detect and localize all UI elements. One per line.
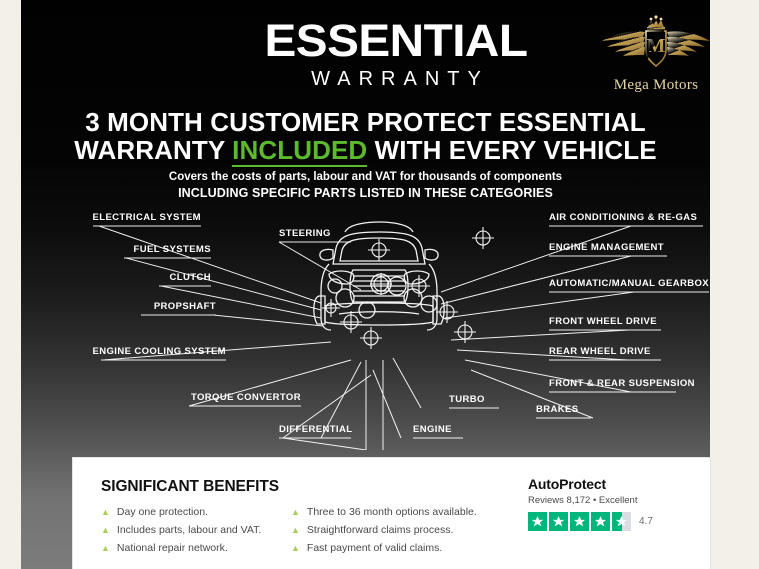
headline-line2-before: WARRANTY — [74, 135, 225, 165]
diagram-label-differential: DIFFERENTIAL — [279, 424, 352, 437]
diagram-label-suspension: FRONT & REAR SUSPENSION — [549, 378, 695, 391]
trustpilot-stars: 4.7 — [528, 512, 653, 531]
diagram-label-engine-cooling-system: ENGINE COOLING SYSTEM — [21, 346, 226, 359]
benefits-column-1: ▲ Day one protection. ▲ Includes parts, … — [101, 504, 261, 558]
diagram-label-front-wheel-drive: FRONT WHEEL DRIVE — [549, 316, 657, 329]
diagram-label-propshaft: PROPSHAFT — [21, 301, 216, 314]
trustpilot-summary: Reviews 8,172 • Excellent — [528, 495, 653, 506]
chevron-up-icon: ▲ — [291, 504, 300, 520]
trustpilot-rating-word: Excellent — [599, 495, 638, 506]
mega-motors-logo: M Mega Motors — [591, 14, 710, 102]
headline-line2-after: WITH EVERY VEHICLE — [375, 135, 657, 165]
benefit-text: Straightforward claims process. — [307, 522, 453, 538]
star-icon — [528, 512, 547, 531]
benefit-text: National repair network. — [117, 540, 228, 556]
benefits-title: SIGNIFICANT BENEFITS — [101, 478, 279, 496]
star-icon — [549, 512, 568, 531]
benefit-text: Day one protection. — [117, 504, 208, 520]
headline-line-2: WARRANTY INCLUDED WITH EVERY VEHICLE — [21, 136, 710, 164]
diagram-label-rear-wheel-drive: REAR WHEEL DRIVE — [549, 346, 651, 359]
star-icon — [570, 512, 589, 531]
subheading-line-1: Covers the costs of parts, labour and VA… — [21, 170, 710, 185]
diagram-label-engine: ENGINE — [413, 424, 452, 437]
benefit-text: Includes parts, labour and VAT. — [117, 522, 261, 538]
trustpilot-reviews-count: Reviews 8,172 — [528, 495, 590, 506]
diagram-label-turbo: TURBO — [449, 394, 485, 407]
subheading-block: Covers the costs of parts, labour and VA… — [21, 170, 710, 201]
benefit-item: ▲ Straightforward claims process. — [291, 522, 477, 538]
star-icon-partial — [612, 512, 631, 531]
headline-highlight-included: INCLUDED — [232, 135, 367, 167]
benefit-item: ▲ Includes parts, labour and VAT. — [101, 522, 261, 538]
diagram-label-torque-convertor: TORQUE CONVERTOR — [21, 392, 301, 405]
brand-title-block: ESSENTIAL WARRANTY — [246, 18, 546, 92]
diagram-label-fuel-systems: FUEL SYSTEMS — [21, 244, 211, 257]
benefit-item: ▲ National repair network. — [101, 540, 261, 556]
benefit-text: Three to 36 month options available. — [307, 504, 477, 520]
benefit-item: ▲ Three to 36 month options available. — [291, 504, 477, 520]
chevron-up-icon: ▲ — [101, 522, 110, 538]
significant-benefits-panel: SIGNIFICANT BENEFITS ▲ Day one protectio… — [73, 458, 710, 569]
benefit-item: ▲ Fast payment of valid claims. — [291, 540, 477, 556]
winged-crown-shield-icon: M — [596, 14, 710, 76]
headline-line-1: 3 MONTH CUSTOMER PROTECT ESSENTIAL — [21, 108, 710, 136]
brand-title-warranty: WARRANTY — [246, 66, 546, 92]
star-icon — [591, 512, 610, 531]
chevron-up-icon: ▲ — [101, 540, 110, 556]
diagram-label-steering: STEERING — [279, 228, 331, 241]
trustpilot-separator: • — [593, 495, 596, 506]
headline-block: 3 MONTH CUSTOMER PROTECT ESSENTIAL WARRA… — [21, 108, 710, 164]
benefits-column-2: ▲ Three to 36 month options available. ▲… — [291, 504, 477, 558]
trustpilot-provider: AutoProtect — [528, 476, 653, 492]
benefit-item: ▲ Day one protection. — [101, 504, 261, 520]
trustpilot-block: AutoProtect Reviews 8,172 • Excellent 4.… — [528, 476, 653, 531]
diagram-label-engine-management: ENGINE MANAGEMENT — [549, 242, 664, 255]
diagram-label-clutch: CLUTCH — [21, 272, 211, 285]
logo-wordmark: Mega Motors — [591, 77, 710, 94]
subheading-line-2: INCLUDING SPECIFIC PARTS LISTED IN THESE… — [21, 185, 710, 201]
brand-title-essential: ESSENTIAL — [237, 18, 555, 64]
diagram-label-electrical-system: ELECTRICAL SYSTEM — [21, 212, 201, 225]
banner-header: ESSENTIAL WARRANTY — [21, 0, 710, 103]
chevron-up-icon: ▲ — [291, 522, 300, 538]
benefit-text: Fast payment of valid claims. — [307, 540, 442, 556]
svg-text:M: M — [647, 35, 666, 57]
trustpilot-score: 4.7 — [639, 516, 653, 527]
page-frame: ESSENTIAL WARRANTY — [0, 0, 759, 569]
diagram-label-air-conditioning: AIR CONDITIONING & RE-GAS — [549, 212, 697, 225]
diagram-label-brakes: BRAKES — [536, 404, 579, 417]
chevron-up-icon: ▲ — [101, 504, 110, 520]
coverage-diagram: ELECTRICAL SYSTEM FUEL SYSTEMS CLUTCH PR… — [21, 200, 710, 450]
chevron-up-icon: ▲ — [291, 540, 300, 556]
diagram-label-gearbox: AUTOMATIC/MANUAL GEARBOX — [549, 278, 709, 291]
